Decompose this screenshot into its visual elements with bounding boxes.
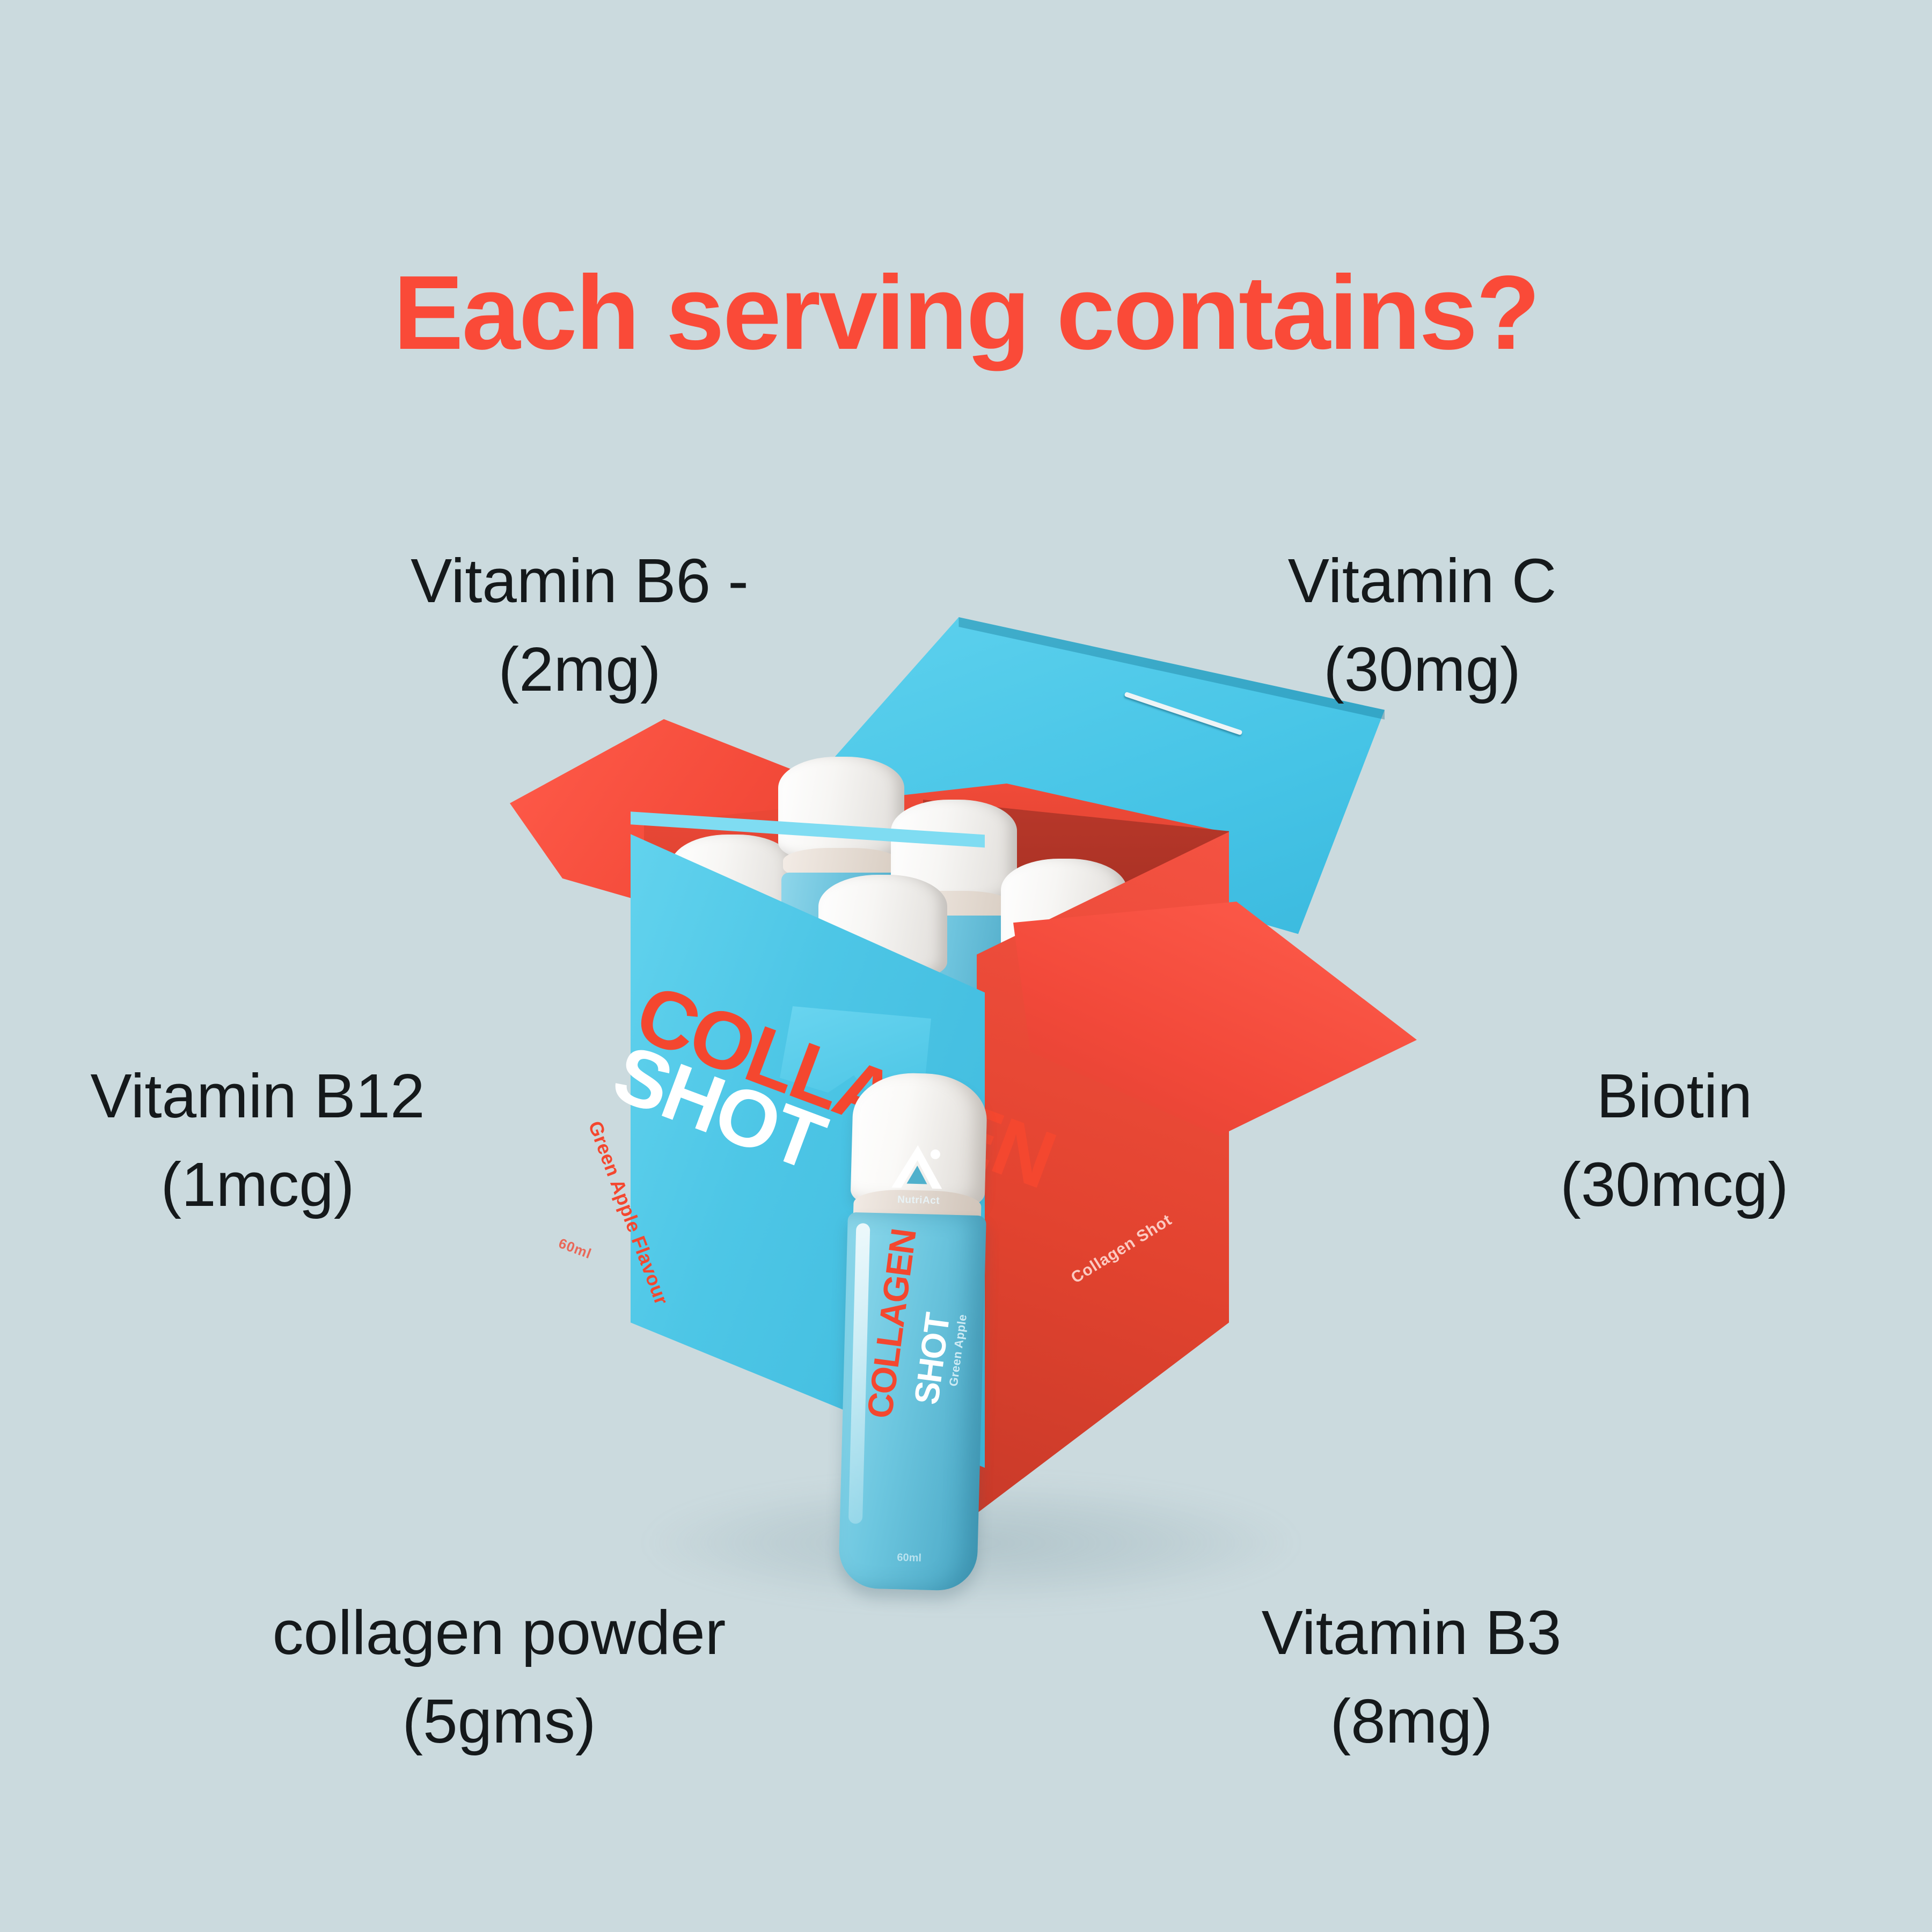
- bottle-logo-text: NutriAct: [878, 1194, 959, 1207]
- page-title: Each serving contains?: [0, 258, 1932, 368]
- ingredient-amount: (30mcg): [1406, 1140, 1932, 1229]
- ingredient-amount: (1mcg): [0, 1140, 526, 1229]
- ingredient-label-biotin: Biotin (30mcg): [1406, 1052, 1932, 1228]
- ingredient-label-vitamin-b3: Vitamin B3 (8mg): [1063, 1589, 1760, 1765]
- bottle-volume-text: 60ml: [863, 1551, 955, 1565]
- ingredient-label-vitamin-b6: Vitamin B6 - (2mg): [236, 537, 923, 713]
- ingredient-name: Vitamin B12: [90, 1061, 425, 1131]
- ingredient-label-vitamin-c: Vitamin C (30mg): [1073, 537, 1771, 713]
- ingredient-name: Vitamin B3: [1262, 1598, 1562, 1667]
- product-image: COLLAGEN SHOT Green Apple Flavour 60ml C…: [515, 623, 1438, 1631]
- ingredient-amount: (2mg): [236, 625, 923, 714]
- ingredient-name: Vitamin C: [1288, 546, 1557, 616]
- ingredient-amount: (8mg): [1063, 1677, 1760, 1766]
- vial-cap: [778, 757, 904, 861]
- ingredient-amount: (5gms): [140, 1677, 859, 1766]
- box-flavour-text: Green Apple Flavour: [585, 1118, 671, 1307]
- hero-bottle: NutriAct COLLAGEN SHOT Green Apple 60ml: [830, 1071, 1000, 1601]
- ingredient-name: collagen powder: [273, 1598, 726, 1667]
- ingredient-name: Biotin: [1597, 1061, 1752, 1131]
- box-volume-text: 60ml: [557, 1235, 594, 1262]
- ingredient-amount: (30mg): [1073, 625, 1771, 714]
- ingredient-label-collagen-powder: collagen powder (5gms): [140, 1589, 859, 1765]
- ingredient-name: Vitamin B6 -: [411, 546, 749, 616]
- ingredient-label-vitamin-b12: Vitamin B12 (1mcg): [0, 1052, 526, 1228]
- brand-logo-icon: [887, 1141, 947, 1192]
- infographic-canvas: Each serving contains?: [0, 0, 1932, 1932]
